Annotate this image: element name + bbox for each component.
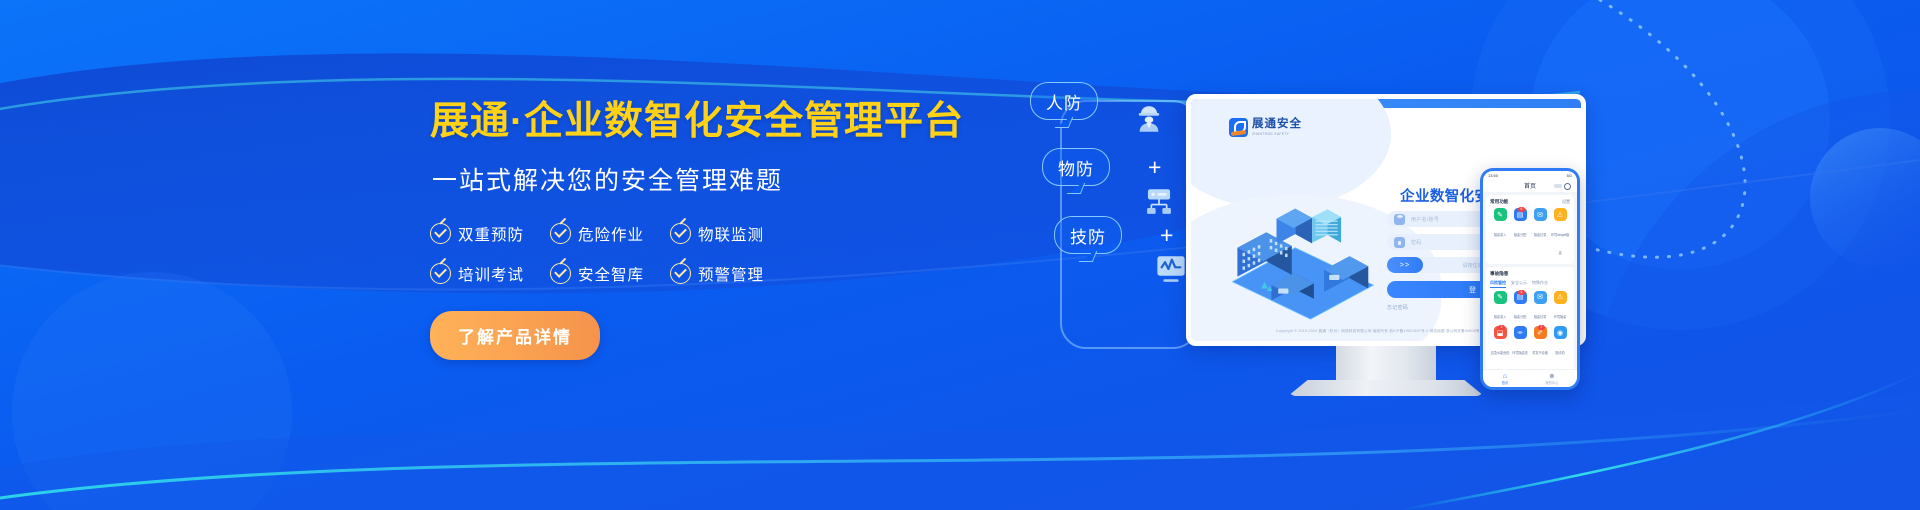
learn-more-button[interactable]: 了解产品详情 bbox=[430, 311, 600, 360]
app-label: 环境隐患查 bbox=[1512, 351, 1527, 355]
badge: 6 bbox=[1518, 290, 1525, 295]
check-icon bbox=[430, 263, 451, 284]
phone-app-item[interactable]: ⚠ 环境despat隐患 bbox=[1550, 208, 1570, 259]
plus-sign-2: + bbox=[1160, 224, 1173, 247]
app-icon: ⌯ bbox=[1514, 326, 1527, 339]
app-icon: ✎ bbox=[1494, 208, 1507, 221]
logo-name: 展通安全 bbox=[1252, 119, 1302, 131]
status-indicators: 5G bbox=[1567, 173, 1572, 178]
page-subtitle: 一站式解决您的安全管理难题 bbox=[432, 161, 990, 197]
defense-bubble-label: 物防 bbox=[1058, 155, 1094, 180]
feature-list: 双重预防 危险作业 物联监测 培训考试 安全智库 预警管理 bbox=[430, 223, 790, 303]
badge: 2 bbox=[1538, 325, 1545, 330]
phone-app-grid-1: ✎ 隐患录入 ▤ 6 隐患分配 ✉ 隐患记录 ⚠ bbox=[1490, 208, 1570, 262]
app-icon: ◉ bbox=[1554, 326, 1567, 339]
check-icon bbox=[550, 263, 571, 284]
user-icon: ☻ bbox=[1546, 373, 1559, 380]
lock-icon bbox=[1394, 237, 1405, 248]
badge: 6 bbox=[1518, 207, 1525, 212]
phone-tab[interactable]: 安全公示 bbox=[1511, 280, 1527, 288]
feature-label: 危险作业 bbox=[578, 223, 644, 245]
mobile-phone-mockup: 13:50 5G 首页 常用功能 设置 ✎ bbox=[1480, 168, 1580, 390]
check-icon bbox=[430, 223, 451, 244]
phone-nav-bar: 首页 bbox=[1483, 179, 1577, 192]
app-icon: ✎ bbox=[1494, 291, 1507, 304]
feature-label: 培训考试 bbox=[458, 263, 524, 285]
logo-mark-icon bbox=[1229, 118, 1248, 137]
phone-tab[interactable]: 风险管控 bbox=[1490, 280, 1506, 288]
plus-sign-1: + bbox=[1148, 156, 1161, 179]
phone-app-item[interactable]: ✉ 隐患记录 bbox=[1530, 291, 1550, 324]
section-title: 事故隐患 bbox=[1490, 271, 1508, 277]
phone-app-item[interactable]: ✎ 隐患录入 bbox=[1490, 208, 1510, 259]
phone-section-common: 常用功能 设置 ✎ 隐患录入 ▤ 6 隐患分配 bbox=[1486, 195, 1574, 264]
phone-nav-pill-icon bbox=[1554, 184, 1562, 188]
phone-app-item[interactable]: ✉ 隐患记录 bbox=[1530, 208, 1550, 259]
app-label: 隐患分配 bbox=[1514, 233, 1526, 237]
username-placeholder: 用户名/账号 bbox=[1411, 216, 1439, 223]
page-title: 展通·企业数智化安全管理平台 bbox=[430, 100, 990, 145]
product-visual: 人防 物防 技防 + + bbox=[1020, 60, 1640, 460]
slider-captcha-knob[interactable]: >> bbox=[1387, 257, 1423, 273]
app-logo: 展通安全 ZHANTONG SAFETY bbox=[1229, 118, 1302, 137]
badge: 3 bbox=[1498, 325, 1505, 330]
feature-label: 物联监测 bbox=[698, 223, 764, 245]
bottom-nav-label: 首页 bbox=[1502, 381, 1508, 385]
feature-item: 物联监测 bbox=[670, 223, 790, 245]
feature-item: 危险作业 bbox=[550, 223, 670, 245]
section-action[interactable]: 设置 bbox=[1562, 199, 1570, 205]
bottom-nav-profile[interactable]: ☻ 我的中心 bbox=[1546, 373, 1559, 385]
feature-item: 安全智库 bbox=[550, 263, 670, 285]
user-icon bbox=[1394, 214, 1405, 225]
app-label: 环境despat隐患 bbox=[1551, 233, 1569, 255]
app-label: 隐患分配 bbox=[1514, 315, 1526, 319]
password-placeholder: 密码 bbox=[1411, 239, 1422, 246]
check-icon bbox=[670, 263, 691, 284]
app-icon: ⚠ bbox=[1554, 208, 1567, 221]
phone-app-item[interactable]: ▤ 6 隐患分配 bbox=[1510, 291, 1530, 324]
defense-bubble-jifang: 技防 bbox=[1054, 216, 1122, 254]
feature-label: 安全智库 bbox=[578, 263, 644, 285]
feature-label: 预警管理 bbox=[698, 263, 764, 285]
app-icon: ✉ bbox=[1534, 291, 1547, 304]
app-label: 隐患录入 bbox=[1494, 315, 1506, 319]
app-icon: ✉ bbox=[1534, 208, 1547, 221]
feature-item: 预警管理 bbox=[670, 263, 790, 285]
app-label: 隐患记录 bbox=[1534, 315, 1546, 319]
app-label: 重复不合格 bbox=[1532, 351, 1547, 355]
feature-label: 双重预防 bbox=[458, 223, 524, 245]
logo-subtitle: ZHANTONG SAFETY bbox=[1252, 133, 1302, 136]
bottom-nav-label: 我的中心 bbox=[1546, 381, 1559, 385]
gear-icon[interactable] bbox=[1564, 183, 1571, 190]
screen-decor-1 bbox=[1191, 99, 1391, 209]
phone-app-item[interactable]: ✎ 隐患录入 bbox=[1490, 291, 1510, 324]
copyright-text: Copyright © 2019-2024 展通（杭州）网络科技有限公司 版权所… bbox=[1276, 329, 1496, 334]
monitor-base bbox=[1288, 380, 1484, 396]
defense-bubble-renfang: 人防 bbox=[1030, 82, 1098, 120]
check-icon bbox=[670, 223, 691, 244]
hero-banner: 展通·企业数智化安全管理平台 一站式解决您的安全管理难题 双重预防 危险作业 物… bbox=[0, 0, 1920, 510]
worker-helmet-icon bbox=[1132, 102, 1166, 136]
feature-item: 培训考试 bbox=[430, 263, 550, 285]
feature-item: 双重预防 bbox=[430, 223, 550, 245]
app-label: 隐患录入 bbox=[1494, 233, 1506, 237]
app-icon: ⚠ bbox=[1554, 291, 1567, 304]
defense-bubble-wufang: 物防 bbox=[1042, 148, 1110, 186]
monitor-neck bbox=[1336, 346, 1436, 384]
defense-bubble-label: 人防 bbox=[1046, 89, 1082, 114]
app-label: 隐患记录 bbox=[1534, 233, 1546, 237]
phone-screen: 13:50 5G 首页 常用功能 设置 ✎ bbox=[1483, 171, 1577, 387]
app-label: 随手拍 bbox=[1555, 351, 1564, 355]
phone-status-bar: 13:50 5G bbox=[1483, 171, 1577, 179]
phone-app-item[interactable]: ⚠ 环境隐患 bbox=[1550, 291, 1570, 324]
phone-tab[interactable]: 特殊作业 bbox=[1532, 280, 1548, 288]
phone-app-item[interactable]: ▤ 6 隐患分配 bbox=[1510, 208, 1530, 259]
bottom-nav-home[interactable]: ⌂ 首页 bbox=[1502, 373, 1508, 385]
network-device-icon bbox=[1142, 185, 1176, 219]
phone-tabs: 风险管控 安全公示 特殊作业 bbox=[1490, 280, 1570, 288]
section-title: 常用功能 bbox=[1490, 199, 1508, 205]
phone-nav-title: 首页 bbox=[1524, 181, 1536, 190]
forgot-password-link[interactable]: 忘记密码 bbox=[1387, 304, 1408, 311]
phone-bottom-nav: ⌂ 首页 ☻ 我的中心 bbox=[1483, 369, 1577, 387]
isometric-buildings-illustration bbox=[1217, 203, 1387, 323]
monitor-waveform-icon bbox=[1154, 252, 1188, 286]
hero-copy: 展通·企业数智化安全管理平台 一站式解决您的安全管理难题 双重预防 危险作业 物… bbox=[430, 100, 990, 360]
app-label: 环境隐患 bbox=[1554, 315, 1566, 319]
check-icon bbox=[550, 223, 571, 244]
home-icon: ⌂ bbox=[1502, 373, 1508, 380]
defense-bubble-label: 技防 bbox=[1070, 223, 1106, 248]
status-time: 13:50 bbox=[1488, 173, 1498, 178]
